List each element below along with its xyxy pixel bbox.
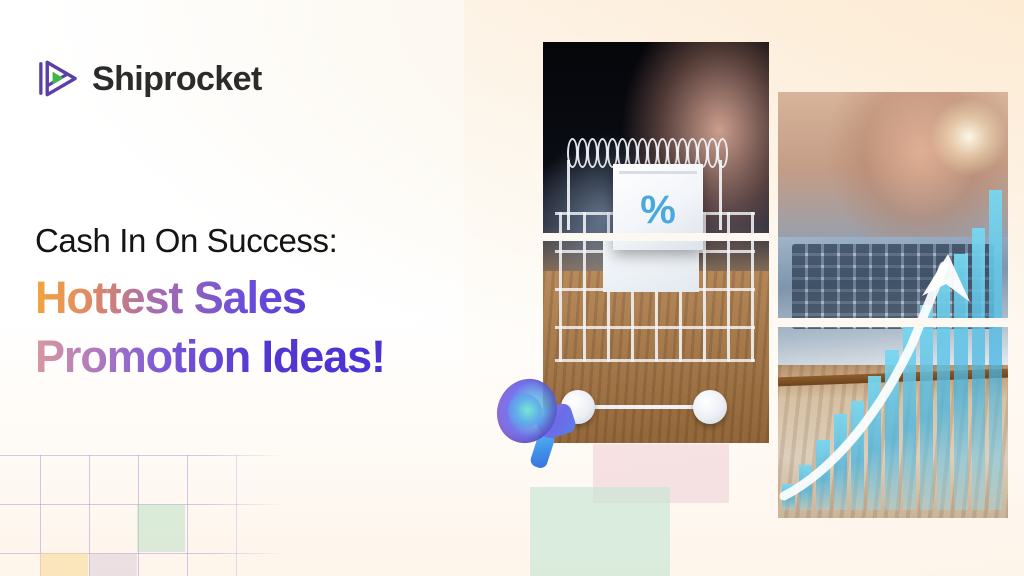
shiprocket-play-logo-icon (34, 55, 81, 102)
grid-cell-amber (40, 553, 88, 576)
cart-axle (579, 405, 709, 409)
headline-line-1: Cash In On Success: (35, 222, 505, 261)
headline-block: Cash In On Success: Hottest Sales Promot… (35, 222, 505, 385)
grid-cell-green (137, 504, 185, 552)
headline-line-2: Hottest Sales (35, 271, 505, 326)
collage-gap-chart (778, 318, 1008, 327)
percent-symbol: % (613, 190, 703, 230)
decorative-rect-mint (530, 487, 670, 576)
growth-arrow-icon (780, 210, 995, 500)
banner-canvas: Shiprocket Cash In On Success: Hottest S… (0, 0, 1024, 576)
brand-name: Shiprocket (92, 62, 262, 96)
brand-logo[interactable]: Shiprocket (34, 55, 262, 102)
collage-gap-cart (543, 233, 769, 241)
megaphone-3d-icon (494, 374, 580, 472)
headline-line-3: Promotion Ideas! (35, 330, 505, 385)
growth-chart-laptop-photo (778, 92, 1008, 518)
box-lid (619, 171, 697, 174)
grid-cell-lilac (89, 553, 137, 576)
cart-wheel-right (693, 390, 727, 424)
arrow-glow (930, 98, 1008, 176)
